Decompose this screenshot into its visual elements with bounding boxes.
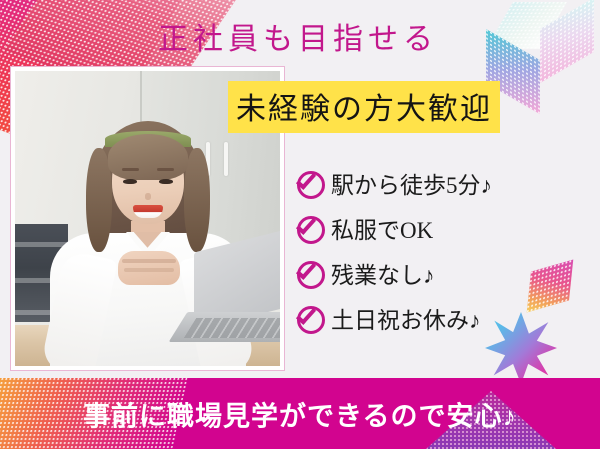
check-circle-icon xyxy=(296,215,322,241)
footer-banner: 事前に職場見学ができるので安心♪ xyxy=(0,378,600,449)
check-circle-icon xyxy=(296,305,322,331)
headline: 正社員も目指せる xyxy=(158,14,438,58)
footer-banner-text: 事前に職場見学ができるので安心♪ xyxy=(0,394,600,433)
check-circle-icon xyxy=(296,170,322,196)
benefits-list: 駅から徒歩5分♪ 私服でOK 残業なし♪ 土日祝お休み♪ xyxy=(296,160,492,340)
list-item: 私服でOK xyxy=(296,205,492,250)
list-item: 土日祝お休み♪ xyxy=(296,295,492,340)
list-item-label: 駅から徒歩5分♪ xyxy=(331,166,492,200)
subheadline-highlight: 未経験の方大歓迎 xyxy=(228,81,500,133)
list-item-label: 残業なし♪ xyxy=(331,256,435,290)
job-ad-banner: 正社員も目指せる 未経験の方大歓迎 駅から徒歩5分♪ 私服でOK 残業なし♪ xyxy=(0,0,600,449)
list-item: 残業なし♪ xyxy=(296,250,492,295)
gradient-star-icon xyxy=(485,312,557,384)
pastel-hex-cube-top-right-icon xyxy=(486,2,594,110)
check-circle-icon xyxy=(296,260,322,286)
cabinet-handle-icon xyxy=(224,142,228,176)
gradient-diamond-right-icon xyxy=(527,260,574,313)
list-item: 駅から徒歩5分♪ xyxy=(296,160,492,205)
list-item-label: 土日祝お休み♪ xyxy=(331,301,481,335)
list-item-label: 私服でOK xyxy=(331,211,433,245)
